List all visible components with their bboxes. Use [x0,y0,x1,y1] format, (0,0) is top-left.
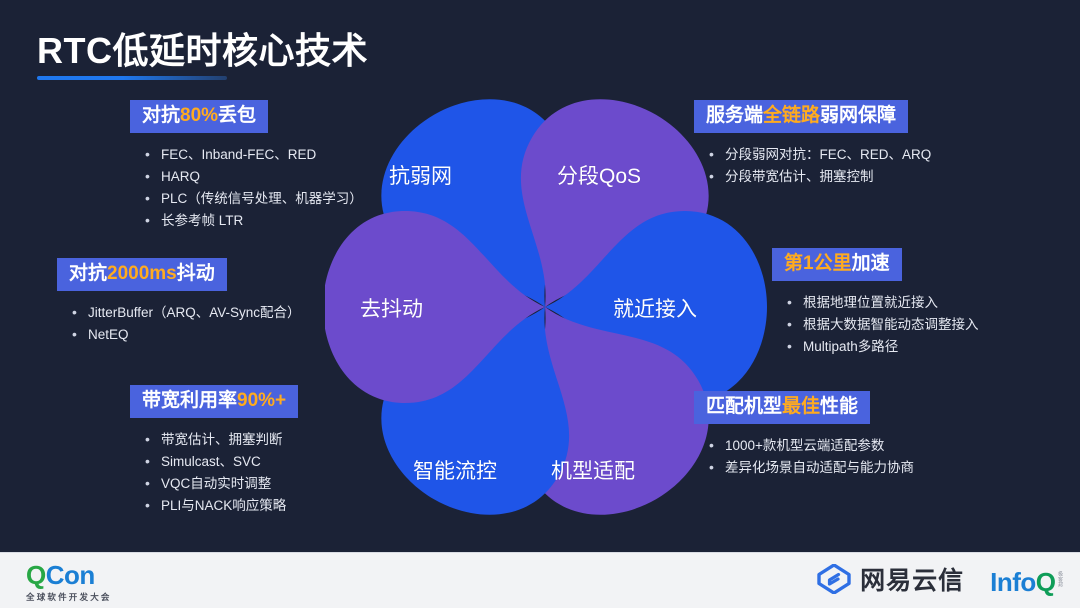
list-item: Simulcast、SVC [141,451,298,473]
list-item: PLI与NACK响应策略 [141,495,298,517]
list-item: 分段带宽估计、拥塞控制 [705,166,931,188]
list-item: 1000+款机型云端适配参数 [705,435,914,457]
list-item: 根据地理位置就近接入 [783,292,979,314]
badge-jitter: 对抗2000ms抖动 [57,258,227,291]
netease-diamond-icon [817,564,851,599]
list-item: VQC自动实时调整 [141,473,298,495]
badge-jitter-pre: 对抗 [69,263,107,284]
list-item: JitterBuffer（ARQ、AV-Sync配合） [68,302,301,324]
bullet-list-first-kilometer: 根据地理位置就近接入 根据大数据智能动态调整接入 Multipath多路径 [783,292,979,358]
netease-yunxin-logo: 网易云信 [817,564,964,599]
infoq-logo: Info Q 极客邦 [990,569,1064,595]
badge-firstkm-post: 加速 [852,253,890,274]
infoq-wordmark-info: Info [990,569,1036,595]
page-title: RTC低延时核心技术 [37,22,368,74]
list-item: PLC（传统信号处理、机器学习） [141,188,363,210]
list-item: HARQ [141,166,363,188]
infoq-wordmark-q: Q [1036,569,1056,595]
badge-server-post: 弱网保障 [820,105,896,126]
badge-jitter-highlight: 2000ms [107,263,177,284]
bullet-list-server: 分段弱网对抗：FEC、RED、ARQ 分段带宽估计、拥塞控制 [705,144,931,188]
bullet-list-device: 1000+款机型云端适配参数 差异化场景自动适配与能力协商 [705,435,914,479]
list-item: 长参考帧 LTR [141,210,363,232]
badge-bandwidth-pre: 带宽利用率 [142,390,237,411]
list-item: NetEQ [68,324,301,346]
info-block-server: 服务端全链路弱网保障 分段弱网对抗：FEC、RED、ARQ 分段带宽估计、拥塞控… [694,100,931,188]
badge-device: 匹配机型最佳性能 [694,391,870,424]
list-item: Multipath多路径 [783,336,979,358]
badge-loss-highlight: 80% [180,105,218,126]
infoq-tagline: 极客邦 [1057,571,1064,588]
list-item: 差异化场景自动适配与能力协商 [705,457,914,479]
badge-bandwidth-post: + [275,390,286,411]
footer-bar: QCon 全球软件开发大会 网易云信 Info Q 极客邦 [0,552,1080,608]
qcon-logo: QCon 全球软件开发大会 [26,562,112,603]
badge-device-post: 性能 [820,396,858,417]
badge-bandwidth-highlight: 90% [237,390,275,411]
badge-server-pre: 服务端 [706,105,763,126]
qcon-logo-q: Q [26,560,46,590]
bullet-list-loss: FEC、Inband-FEC、RED HARQ PLC（传统信号处理、机器学习）… [141,144,363,231]
badge-loss-post: 丢包 [218,105,256,126]
info-block-jitter: 对抗2000ms抖动 JitterBuffer（ARQ、AV-Sync配合） N… [57,258,301,346]
badge-jitter-post: 抖动 [177,263,215,284]
partner-logos: 网易云信 Info Q 极客邦 [817,564,1064,599]
badge-server-highlight: 全链路 [763,105,820,126]
list-item: 带宽估计、拥塞判断 [141,429,298,451]
netease-yunxin-wordmark: 网易云信 [860,569,964,594]
badge-device-pre: 匹配机型 [706,396,782,417]
list-item: 根据大数据智能动态调整接入 [783,314,979,336]
badge-bandwidth: 带宽利用率90%+ [130,385,298,418]
info-block-device: 匹配机型最佳性能 1000+款机型云端适配参数 差异化场景自动适配与能力协商 [694,391,914,479]
info-block-loss: 对抗80%丢包 FEC、Inband-FEC、RED HARQ PLC（传统信号… [130,100,363,231]
list-item: 分段弱网对抗：FEC、RED、ARQ [705,144,931,166]
bullet-list-bandwidth: 带宽估计、拥塞判断 Simulcast、SVC VQC自动实时调整 PLI与NA… [141,429,298,516]
qcon-wordmark: QCon [26,562,112,588]
bullet-list-jitter: JitterBuffer（ARQ、AV-Sync配合） NetEQ [68,302,301,346]
title-underline [37,76,227,80]
info-block-bandwidth: 带宽利用率90%+ 带宽估计、拥塞判断 Simulcast、SVC VQC自动实… [130,385,298,516]
badge-firstkm-highlight: 第1公里 [784,253,852,274]
badge-device-highlight: 最佳 [782,396,820,417]
badge-server: 服务端全链路弱网保障 [694,100,908,133]
badge-first-kilometer: 第1公里加速 [772,248,902,281]
qcon-logo-con: Con [46,560,95,590]
info-block-first-kilometer: 第1公里加速 根据地理位置就近接入 根据大数据智能动态调整接入 Multipat… [772,248,979,358]
list-item: FEC、Inband-FEC、RED [141,144,363,166]
badge-loss: 对抗80%丢包 [130,100,268,133]
qcon-subtitle: 全球软件开发大会 [26,591,112,603]
badge-loss-pre: 对抗 [142,105,180,126]
slide-canvas: RTC低延时核心技术 抗弱网 分段QoS 就近接入 机型适配 智能流控 去抖动 … [0,0,1080,552]
